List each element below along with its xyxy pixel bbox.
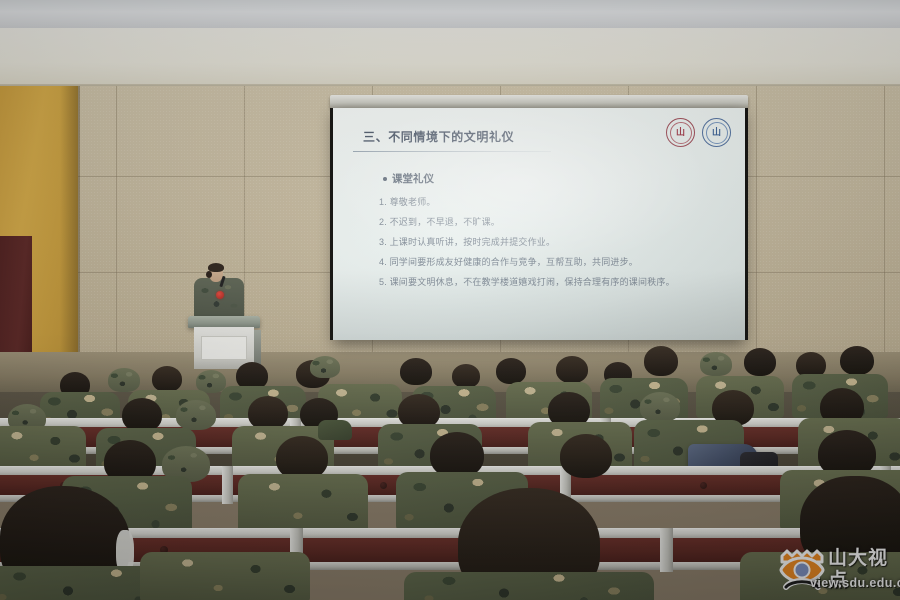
amber-column-shadow	[60, 86, 80, 386]
slide-bullet-heading-text: 课堂礼仪	[392, 171, 434, 186]
desk-leg	[222, 466, 233, 504]
list-item: 5. 课间要文明休息，不在教学楼道嬉戏打闹，保持合理有序的课间秩序。	[379, 275, 729, 288]
sdu-seal-blue-glyph: 山	[712, 128, 721, 137]
audience-cap	[700, 352, 732, 376]
desk-top-surface	[0, 528, 900, 538]
podium-front-plate	[201, 336, 247, 360]
slide-bullet-heading: 课堂礼仪	[383, 171, 729, 186]
foreground-torso	[404, 572, 654, 600]
audience-cap	[176, 400, 216, 430]
audience-cap	[310, 356, 340, 378]
audience-head	[560, 434, 612, 478]
slide-list: 1. 尊敬老师。 2. 不迟到，不早退，不旷课。 3. 上课时认真听讲，按时完成…	[379, 195, 729, 288]
lecture-hall-photo: 山 山 三、不同情境下的文明礼仪 课堂礼仪 1. 尊敬老师。 2. 不迟到，不早…	[0, 0, 900, 600]
audience-torso	[0, 426, 86, 470]
desk-knob	[380, 482, 387, 489]
list-item: 1. 尊敬老师。	[379, 195, 729, 208]
sdu-seal-red-glyph: 山	[676, 128, 685, 137]
sdu-seal-blue-icon: 山	[702, 118, 731, 147]
audience-head	[122, 398, 162, 432]
audience-cap	[640, 392, 680, 422]
audience-head	[556, 356, 588, 383]
audience-head	[744, 348, 776, 376]
desk-leg	[660, 528, 673, 572]
speaker-red-flower-badge	[216, 291, 224, 299]
audience-head	[840, 346, 874, 375]
audience-torso	[238, 474, 368, 532]
list-item: 4. 同学间要形成友好健康的合作与竞争，互帮互助，共同进步。	[379, 255, 729, 268]
presentation-slide: 山 山 三、不同情境下的文明礼仪 课堂礼仪 1. 尊敬老师。 2. 不迟到，不早…	[333, 108, 745, 340]
audience-head	[452, 364, 480, 388]
watermark-url: view.sdu.edu.cn	[810, 576, 900, 590]
watermark: 山大视点 view.sdu.edu.cn	[778, 546, 896, 596]
audience-head	[152, 366, 182, 392]
projection-screen-housing	[330, 95, 748, 108]
slide-logos: 山 山	[666, 118, 731, 147]
list-item: 3. 上课时认真听讲，按时完成并提交作业。	[379, 235, 729, 248]
slide-title-rule	[353, 151, 551, 152]
green-bag	[318, 420, 352, 440]
desk-knob	[700, 482, 707, 489]
ceiling	[0, 0, 900, 30]
projection-screen: 山 山 三、不同情境下的文明礼仪 课堂礼仪 1. 尊敬老师。 2. 不迟到，不早…	[333, 108, 745, 340]
ceiling-soffit	[0, 28, 900, 86]
list-item: 2. 不迟到，不早退，不旷课。	[379, 215, 729, 228]
audience-cap	[108, 368, 140, 392]
audience-head	[400, 358, 432, 385]
audience-head	[644, 346, 678, 376]
foreground-torso	[140, 552, 310, 600]
speaker-hair-bun	[206, 271, 212, 278]
sdu-seal-red-icon: 山	[666, 118, 695, 147]
bullet-dot-icon	[383, 177, 387, 181]
audience-head	[248, 396, 288, 430]
audience-head	[496, 358, 526, 384]
